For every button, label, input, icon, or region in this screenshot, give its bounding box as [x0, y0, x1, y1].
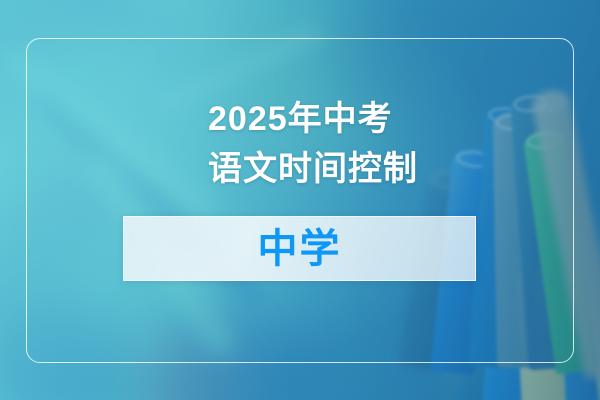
title-line-2: 语文时间控制 — [208, 144, 538, 194]
title-block: 2025年中考 语文时间控制 — [208, 94, 538, 194]
cover-card: 2025年中考 语文时间控制 中学 — [0, 0, 600, 400]
category-banner: 中学 — [123, 216, 476, 281]
background-image — [0, 0, 600, 400]
color-overlay-highlight — [0, 0, 600, 400]
title-line-1: 2025年中考 — [208, 94, 538, 144]
category-banner-label: 中学 — [258, 229, 342, 269]
